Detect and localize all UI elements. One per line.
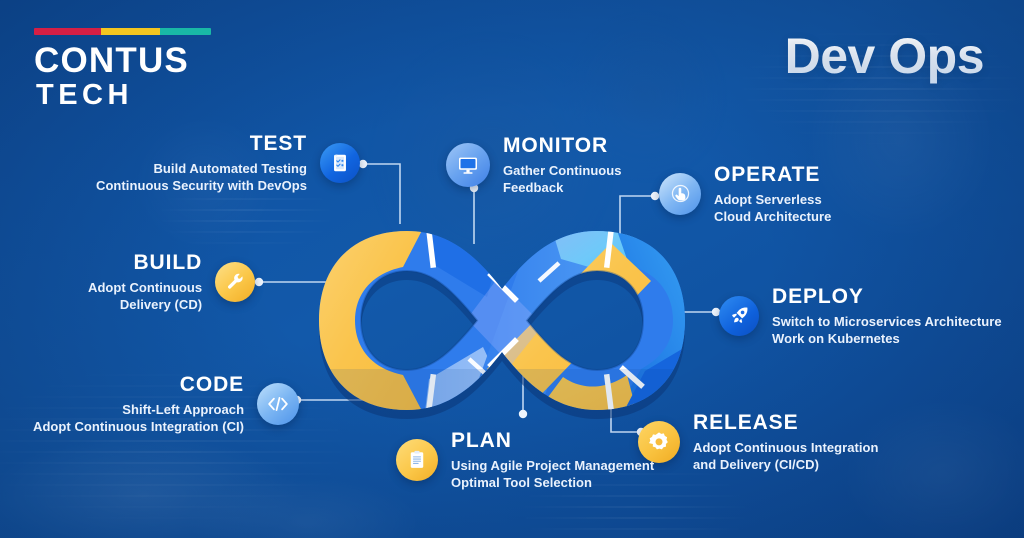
stage-monitor-text: MONITOR Gather Continuous Feedback — [503, 133, 622, 196]
stage-release-desc-line-2: and Delivery (CI/CD) — [693, 457, 879, 474]
contus-tech-logo: CONTUS TECH — [34, 28, 211, 111]
stage-plan-desc-line-1: Using Agile Project Management — [451, 458, 654, 475]
logo-contus-text: CONTUS — [34, 42, 211, 79]
stage-code-desc: Shift-Left Approach Adopt Continuous Int… — [33, 402, 244, 435]
rocket-icon[interactable] — [719, 296, 759, 336]
logo-color-bar — [34, 28, 211, 35]
stage-release[interactable]: RELEASE Adopt Continuous Integration and… — [638, 410, 879, 473]
stage-test-desc-line-2: Continuous Security with DevOps — [96, 178, 307, 195]
stage-deploy-desc-line-2: Work on Kubernetes — [772, 331, 1002, 348]
logo-bar-yellow — [101, 28, 159, 35]
stage-deploy-text: DEPLOY Switch to Microservices Architect… — [772, 284, 1002, 347]
stage-plan-desc-line-2: Optimal Tool Selection — [451, 475, 654, 492]
code-brackets-icon[interactable] — [257, 383, 299, 425]
stage-plan-title: PLAN — [451, 428, 654, 455]
stage-test-desc-line-1: Build Automated Testing — [96, 161, 307, 178]
stage-code-desc-line-2: Adopt Continuous Integration (CI) — [33, 419, 244, 436]
page-title: Dev Ops — [785, 27, 984, 85]
stage-release-desc: Adopt Continuous Integration and Deliver… — [693, 440, 879, 473]
stage-code[interactable]: CODE Shift-Left Approach Adopt Continuou… — [33, 372, 299, 435]
stage-monitor[interactable]: MONITOR Gather Continuous Feedback — [446, 133, 622, 196]
stage-deploy-desc: Switch to Microservices Architecture Wor… — [772, 314, 1002, 347]
clipboard-icon[interactable] — [396, 439, 438, 481]
monitor-icon[interactable] — [446, 143, 490, 187]
logo-bar-teal — [160, 28, 211, 35]
stage-build-desc: Adopt Continuous Delivery (CD) — [88, 280, 202, 313]
stage-test-desc: Build Automated Testing Continuous Secur… — [96, 161, 307, 194]
stage-operate-title: OPERATE — [714, 162, 831, 189]
stage-deploy[interactable]: DEPLOY Switch to Microservices Architect… — [719, 284, 1002, 347]
logo-bar-red — [34, 28, 101, 35]
stage-code-text: CODE Shift-Left Approach Adopt Continuou… — [33, 372, 244, 435]
stage-test-text: TEST Build Automated Testing Continuous … — [96, 131, 307, 194]
logo-tech-text: TECH — [36, 80, 211, 111]
stage-operate[interactable]: OPERATE Adopt Serverless Cloud Architect… — [659, 162, 831, 225]
stage-deploy-desc-line-1: Switch to Microservices Architecture — [772, 314, 1002, 331]
stage-build-desc-line-2: Delivery (CD) — [88, 297, 202, 314]
stage-test[interactable]: TEST Build Automated Testing Continuous … — [96, 131, 360, 194]
wrench-icon[interactable] — [215, 262, 255, 302]
devops-infographic: CONTUS TECH Dev Ops — [0, 0, 1024, 538]
stage-build-title: BUILD — [88, 250, 202, 277]
stage-plan-text: PLAN Using Agile Project Management Opti… — [451, 428, 654, 491]
stage-release-title: RELEASE — [693, 410, 879, 437]
stage-plan-desc: Using Agile Project Management Optimal T… — [451, 458, 654, 491]
stage-build-text: BUILD Adopt Continuous Delivery (CD) — [88, 250, 202, 313]
stage-monitor-title: MONITOR — [503, 133, 622, 160]
stage-operate-text: OPERATE Adopt Serverless Cloud Architect… — [714, 162, 831, 225]
stage-monitor-desc-line-1: Gather Continuous — [503, 163, 622, 180]
stage-deploy-title: DEPLOY — [772, 284, 1002, 311]
touch-gesture-icon[interactable] — [659, 173, 701, 215]
stage-monitor-desc-line-2: Feedback — [503, 180, 622, 197]
stage-build[interactable]: BUILD Adopt Continuous Delivery (CD) — [88, 250, 255, 313]
checklist-icon[interactable] — [320, 143, 360, 183]
stage-code-title: CODE — [33, 372, 244, 399]
devops-infinity-loop — [311, 219, 693, 422]
stage-operate-desc-line-2: Cloud Architecture — [714, 209, 831, 226]
stage-operate-desc: Adopt Serverless Cloud Architecture — [714, 192, 831, 225]
stage-test-title: TEST — [96, 131, 307, 158]
stage-release-text: RELEASE Adopt Continuous Integration and… — [693, 410, 879, 473]
stage-plan[interactable]: PLAN Using Agile Project Management Opti… — [396, 428, 654, 491]
stage-operate-desc-line-1: Adopt Serverless — [714, 192, 831, 209]
stage-code-desc-line-1: Shift-Left Approach — [33, 402, 244, 419]
stage-release-desc-line-1: Adopt Continuous Integration — [693, 440, 879, 457]
stage-monitor-desc: Gather Continuous Feedback — [503, 163, 622, 196]
stage-build-desc-line-1: Adopt Continuous — [88, 280, 202, 297]
